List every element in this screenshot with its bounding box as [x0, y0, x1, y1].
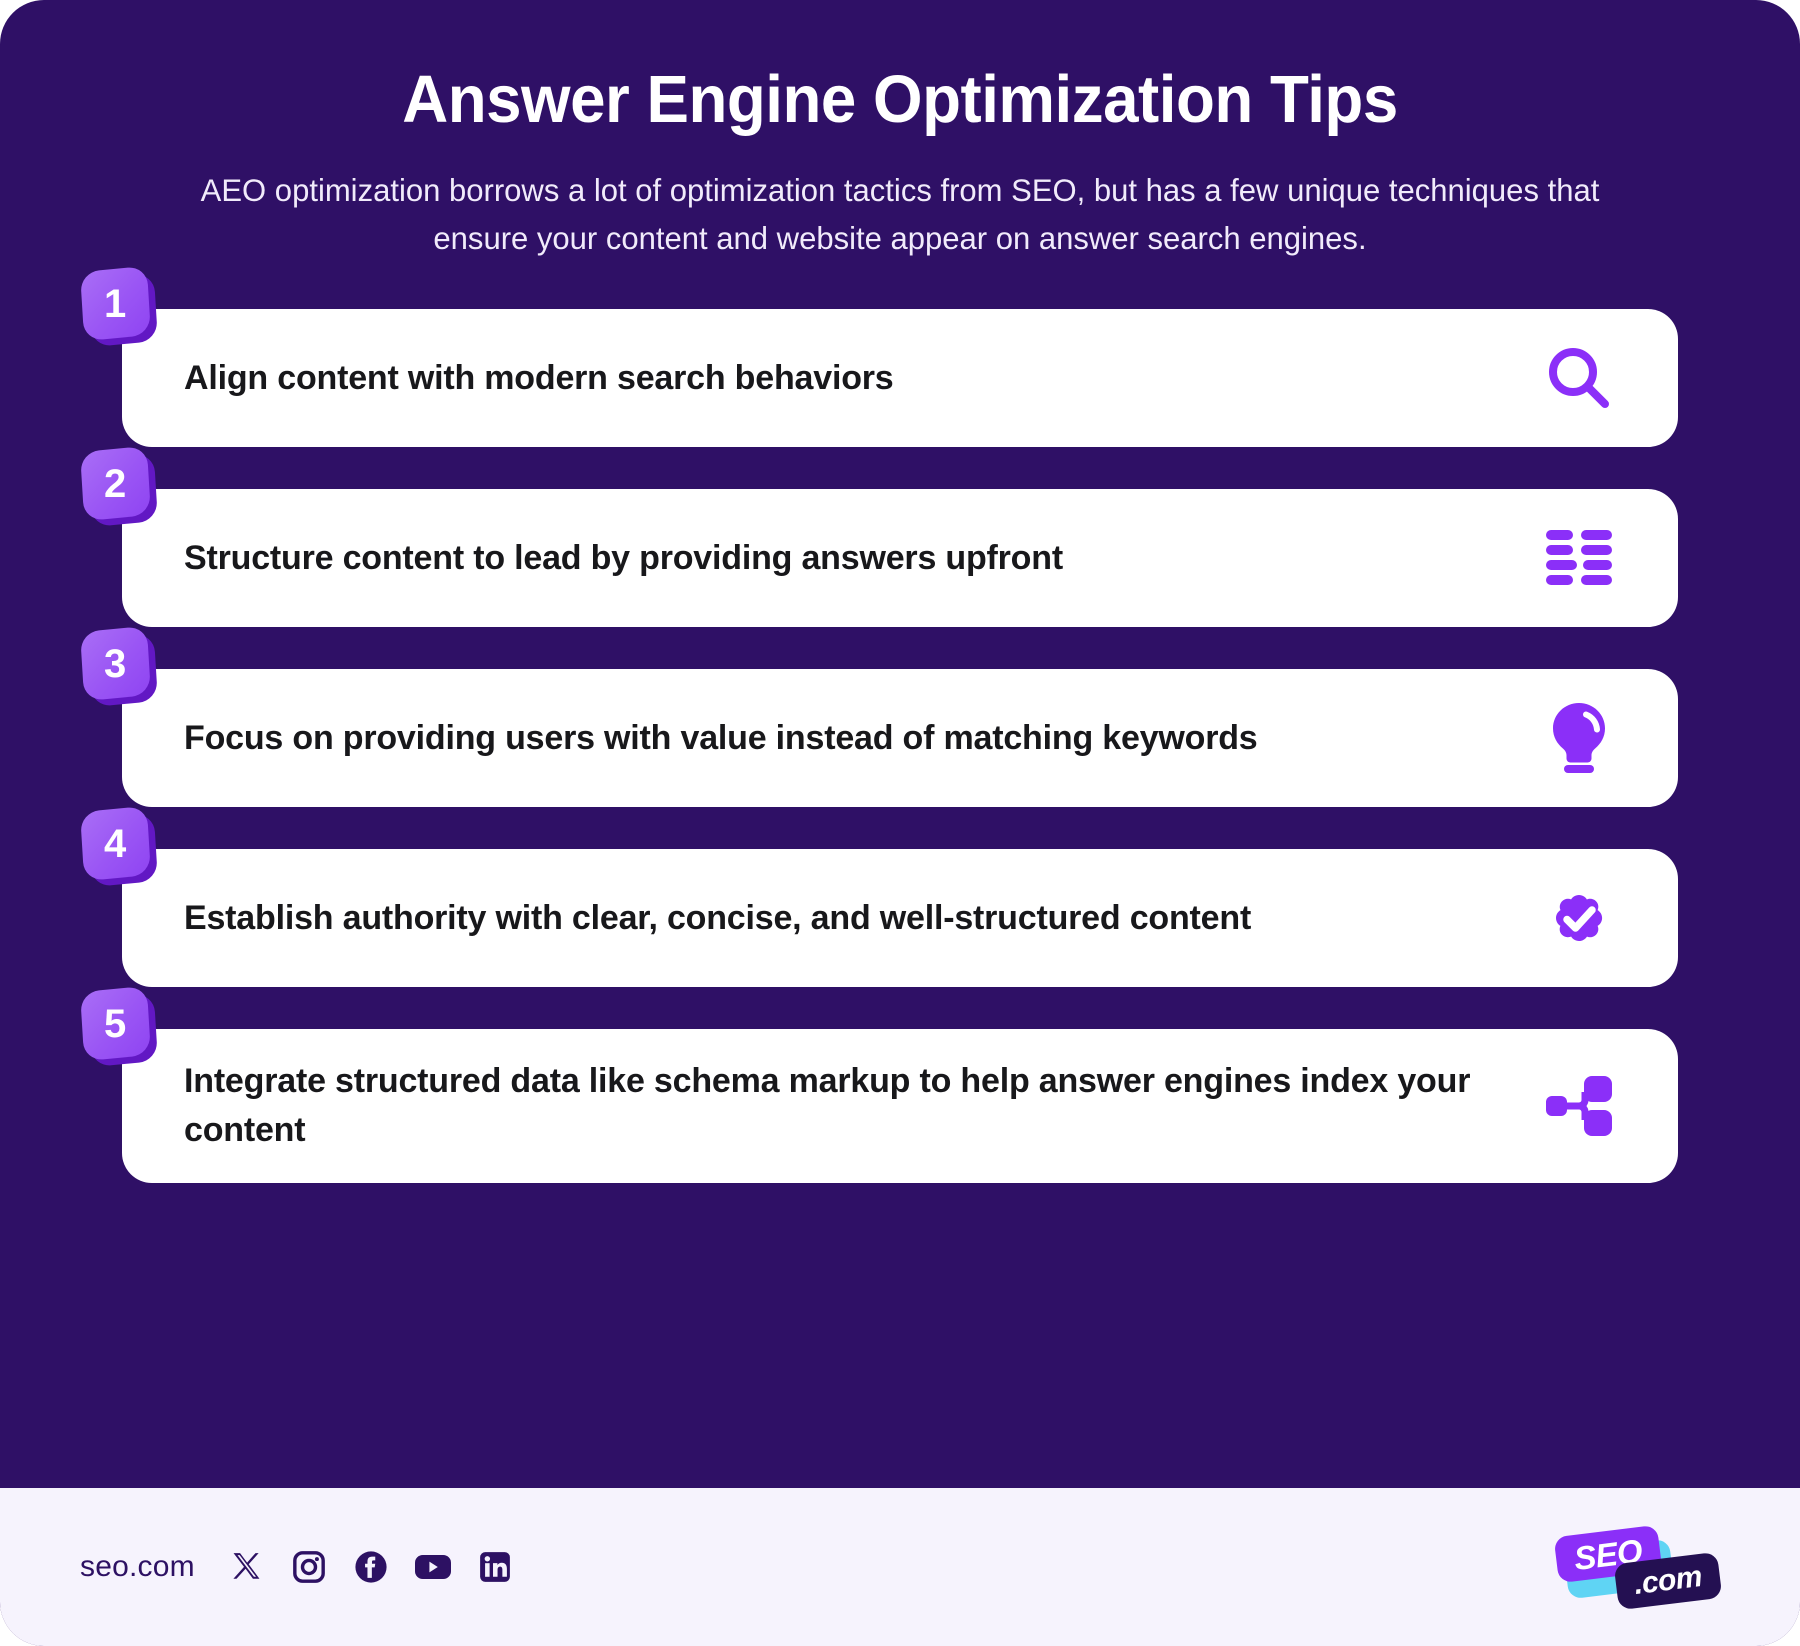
list-item: 5 Integrate structured data like schema …	[0, 1029, 1800, 1183]
facebook-icon[interactable]	[353, 1549, 389, 1585]
x-twitter-icon[interactable]	[229, 1549, 265, 1585]
badge-number: 5	[104, 1003, 126, 1043]
tip-card[interactable]: Establish authority with clear, concise,…	[122, 849, 1678, 987]
tip-number-badge: 3	[80, 629, 160, 709]
list-item: 2 Structure content to lead by providing…	[0, 489, 1800, 627]
tip-text: Align content with modern search behavio…	[184, 354, 1540, 402]
tips-list: 1 Align content with modern search behav…	[0, 309, 1800, 1183]
tip-number-badge: 4	[80, 809, 160, 889]
list-item: 3 Focus on providing users with value in…	[0, 669, 1800, 807]
tip-number-badge: 1	[80, 269, 160, 349]
header: Answer Engine Optimization Tips AEO opti…	[0, 0, 1800, 263]
tip-text: Establish authority with clear, concise,…	[184, 894, 1540, 942]
tip-text: Focus on providing users with value inst…	[184, 714, 1540, 762]
sitemap-icon	[1540, 1067, 1618, 1145]
footer-brand-text: seo.com	[80, 1550, 195, 1584]
youtube-icon[interactable]	[415, 1549, 451, 1585]
logo-secondary-text: .com	[1632, 1562, 1703, 1600]
badge-number: 2	[104, 463, 126, 503]
page-subtitle: AEO optimization borrows a lot of optimi…	[196, 167, 1605, 263]
badge-face: 4	[80, 806, 151, 881]
badge-number: 4	[104, 823, 126, 863]
page-title: Answer Engine Optimization Tips	[45, 66, 1755, 133]
badge-number: 1	[104, 283, 126, 323]
badge-face: 3	[80, 626, 151, 701]
footer-social-group: seo.com	[80, 1549, 513, 1585]
infographic-canvas: Answer Engine Optimization Tips AEO opti…	[0, 0, 1800, 1646]
tip-number-badge: 5	[80, 989, 160, 1069]
seo-dot-com-logo[interactable]: SEO .com	[1544, 1519, 1732, 1615]
tip-number-badge: 2	[80, 449, 160, 529]
verified-badge-icon	[1540, 879, 1618, 957]
list-item: 1 Align content with modern search behav…	[0, 309, 1800, 447]
badge-face: 1	[80, 266, 151, 341]
tip-card[interactable]: Align content with modern search behavio…	[122, 309, 1678, 447]
instagram-icon[interactable]	[291, 1549, 327, 1585]
list-columns-icon	[1540, 519, 1618, 597]
tip-card[interactable]: Integrate structured data like schema ma…	[122, 1029, 1678, 1183]
badge-face: 2	[80, 446, 151, 521]
search-icon	[1540, 339, 1618, 417]
badge-number: 3	[104, 643, 126, 683]
footer: seo.com	[0, 1488, 1800, 1646]
list-item: 4 Establish authority with clear, concis…	[0, 849, 1800, 987]
tip-text: Integrate structured data like schema ma…	[184, 1057, 1540, 1154]
linkedin-icon[interactable]	[477, 1549, 513, 1585]
lightbulb-icon	[1540, 699, 1618, 777]
tip-text: Structure content to lead by providing a…	[184, 534, 1540, 582]
badge-face: 5	[80, 986, 151, 1061]
tip-card[interactable]: Structure content to lead by providing a…	[122, 489, 1678, 627]
tip-card[interactable]: Focus on providing users with value inst…	[122, 669, 1678, 807]
